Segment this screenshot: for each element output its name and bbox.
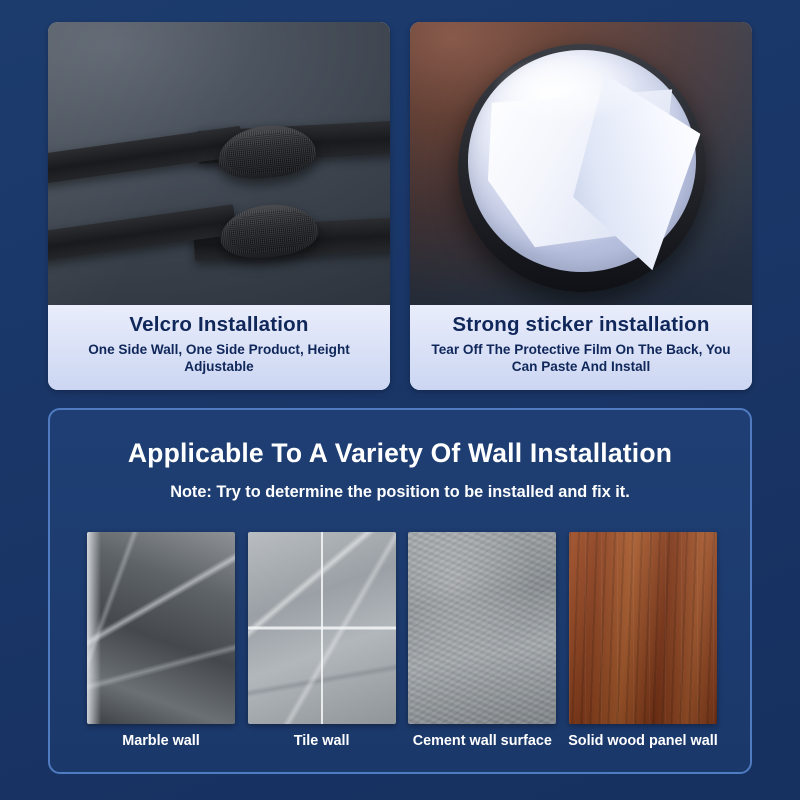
wall-swatch-cell: Tile wall bbox=[247, 532, 397, 750]
adhesive-disc-photo bbox=[410, 22, 752, 305]
sticker-caption: Strong sticker installation Tear Off The… bbox=[410, 305, 752, 390]
marble-wall-swatch bbox=[87, 532, 235, 724]
wood-panel-wall-swatch bbox=[569, 532, 717, 724]
tile-wall-label: Tile wall bbox=[237, 733, 407, 750]
panel-title: Applicable To A Variety Of Wall Installa… bbox=[50, 438, 750, 469]
velcro-subtitle: One Side Wall, One Side Product, Height … bbox=[48, 340, 390, 376]
marble-wall-label: Marble wall bbox=[76, 733, 246, 750]
wall-types-panel: Applicable To A Variety Of Wall Installa… bbox=[48, 408, 752, 774]
wall-swatch-row: Marble wall Tile wall Cement wall surfac… bbox=[86, 532, 718, 750]
wall-swatch-cell: Cement wall surface bbox=[407, 532, 557, 750]
installation-methods-row: Velcro Installation One Side Wall, One S… bbox=[48, 22, 752, 390]
velcro-strips-photo bbox=[48, 22, 390, 305]
wall-swatch-cell: Marble wall bbox=[86, 532, 236, 750]
velcro-title: Velcro Installation bbox=[129, 311, 308, 340]
sticker-title: Strong sticker installation bbox=[452, 311, 709, 340]
wood-panel-wall-label: Solid wood panel wall bbox=[558, 733, 728, 750]
velcro-caption: Velcro Installation One Side Wall, One S… bbox=[48, 305, 390, 390]
wall-swatch-cell: Solid wood panel wall bbox=[568, 532, 718, 750]
velcro-card: Velcro Installation One Side Wall, One S… bbox=[48, 22, 390, 390]
panel-note: Note: Try to determine the position to b… bbox=[50, 483, 750, 502]
sticker-card: Strong sticker installation Tear Off The… bbox=[410, 22, 752, 390]
tile-wall-swatch bbox=[248, 532, 396, 724]
adhesive-disc bbox=[458, 44, 706, 292]
cement-wall-label: Cement wall surface bbox=[397, 733, 567, 750]
sticker-subtitle: Tear Off The Protective Film On The Back… bbox=[410, 340, 752, 376]
cement-wall-swatch bbox=[408, 532, 556, 724]
product-infographic: Velcro Installation One Side Wall, One S… bbox=[0, 0, 800, 800]
disc-highlight bbox=[492, 54, 642, 124]
